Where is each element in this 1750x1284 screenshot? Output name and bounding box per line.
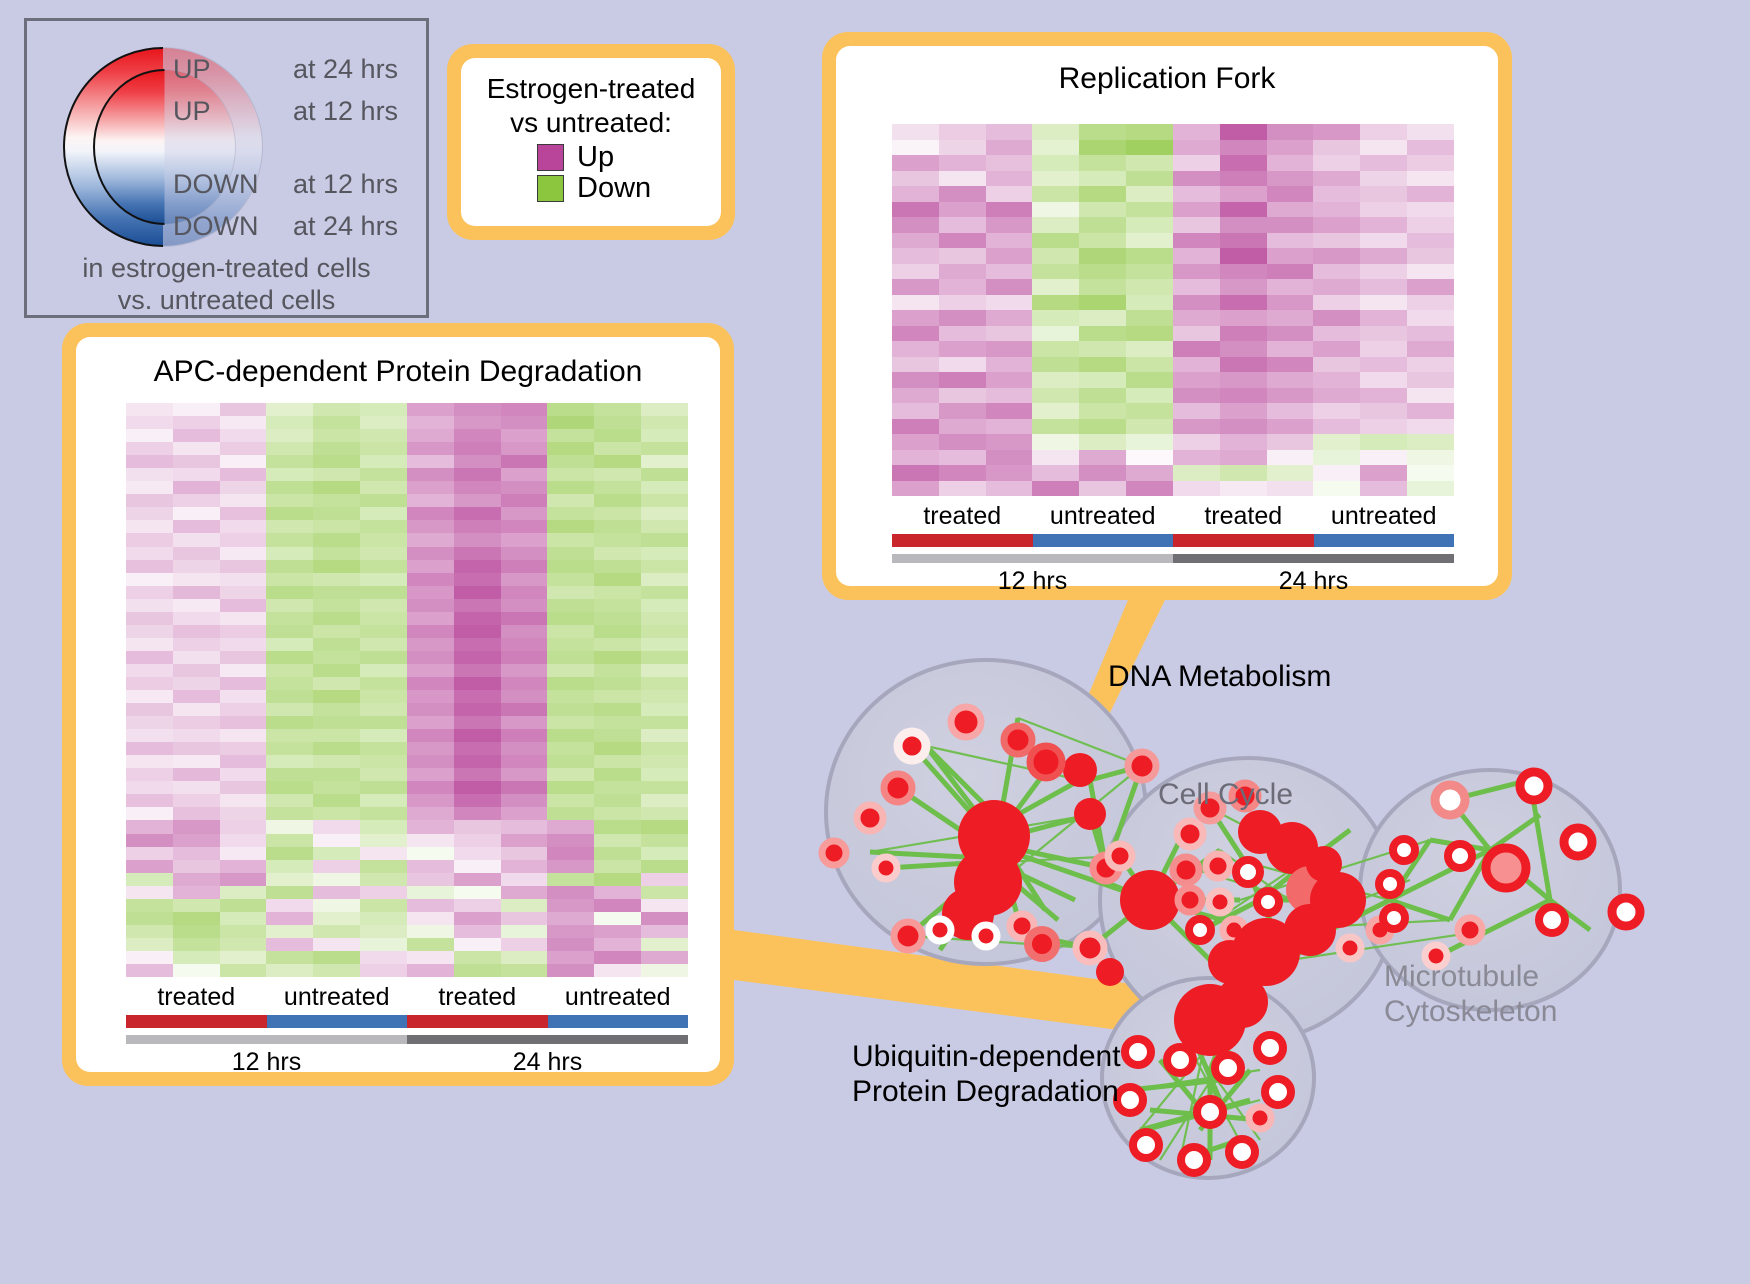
heatmap-cell — [220, 703, 267, 716]
heatmap-cell — [173, 468, 220, 481]
heatmap-cell — [1032, 186, 1079, 202]
heatmap-cell — [547, 677, 594, 690]
heatmap-cell — [126, 820, 173, 833]
heatmap-cell — [1360, 140, 1407, 156]
network-node — [975, 925, 997, 947]
heatmap-cell — [986, 124, 1033, 140]
heatmap-cell — [1032, 295, 1079, 311]
heatmap-cell — [173, 481, 220, 494]
heatmap-cell — [220, 716, 267, 729]
heatmap-cell — [220, 912, 267, 925]
colorbar-dir: UP — [173, 96, 293, 127]
heatmap-cell — [1267, 388, 1314, 404]
heatmap-cell — [1079, 357, 1126, 373]
heatmap-cell — [454, 612, 501, 625]
heatmap-cell — [1079, 310, 1126, 326]
heatmap-cell — [454, 847, 501, 860]
heatmap-cell — [454, 834, 501, 847]
heatmap-cell — [892, 217, 939, 233]
heatmap-cell — [126, 873, 173, 886]
heatmap-cell — [892, 124, 939, 140]
heatmap-cell — [1267, 434, 1314, 450]
heatmap-cell — [1079, 372, 1126, 388]
heatmap-cell — [313, 781, 360, 794]
network-node — [822, 841, 846, 865]
heatmap-cell — [220, 612, 267, 625]
heatmap-cell — [1360, 465, 1407, 481]
heatmap-cell — [454, 403, 501, 416]
heatmap-cell — [501, 612, 548, 625]
heatmap-cell — [126, 899, 173, 912]
heatmap-cell — [986, 264, 1033, 280]
heatmap-cell — [641, 429, 688, 442]
heatmap-cell — [360, 768, 407, 781]
heatmap-cell — [594, 520, 641, 533]
heatmap-cell — [220, 403, 267, 416]
heatmap-cell — [454, 638, 501, 651]
heatmap-cell — [1126, 155, 1173, 171]
heatmap-cell — [126, 755, 173, 768]
heatmap-cell — [1360, 388, 1407, 404]
heatmap-cell — [220, 886, 267, 899]
heatmap-cell — [313, 625, 360, 638]
heatmap-cell — [501, 442, 548, 455]
heatmap-cell — [126, 560, 173, 573]
heatmap-cell — [547, 573, 594, 586]
heatmap-cell — [454, 925, 501, 938]
heatmap-cell — [501, 507, 548, 520]
heatmap-cell — [1313, 279, 1360, 295]
heatmap-cell — [501, 481, 548, 494]
heatmap-cell — [1313, 388, 1360, 404]
legend-title-line1: Estrogen-treated — [461, 72, 721, 106]
heatmap-cell — [594, 442, 641, 455]
heatmap-cell — [892, 264, 939, 280]
heatmap-cell — [641, 755, 688, 768]
colorbar-dir: UP — [173, 54, 293, 85]
heatmap-cell — [1407, 248, 1454, 264]
heatmap-cell — [1126, 233, 1173, 249]
heatmap-cell — [173, 638, 220, 651]
heatmap-cell — [1173, 202, 1220, 218]
heatmap-cell — [454, 860, 501, 873]
heatmap-cell — [360, 403, 407, 416]
network-node — [1435, 785, 1465, 815]
heatmap-cell — [407, 873, 454, 886]
heatmap-cell — [547, 912, 594, 925]
heatmap-cell — [454, 533, 501, 546]
heatmap-cell — [594, 794, 641, 807]
heatmap-cell — [1173, 403, 1220, 419]
network-node — [1197, 1099, 1223, 1125]
cluster-label-ubiquitin: Ubiquitin-dependent Protein Degradation — [852, 1040, 1121, 1109]
heatmap-cell — [986, 465, 1033, 481]
heatmap-cell — [220, 664, 267, 677]
heatmap-cell — [126, 716, 173, 729]
heatmap-cell — [1220, 481, 1267, 497]
heatmap-cell — [501, 416, 548, 429]
colorbar-time: at 12 hrs — [293, 96, 398, 127]
heatmap-cell — [1267, 403, 1314, 419]
heatmap-cell — [1079, 202, 1126, 218]
cluster-label-microtubule: Microtubule Cytoskeleton — [1384, 960, 1557, 1029]
heatmap-cell — [220, 768, 267, 781]
heatmap-cell — [939, 202, 986, 218]
heatmap-cell — [501, 573, 548, 586]
heatmap-cell — [1407, 264, 1454, 280]
replication-fork-panel: Replication Fork treateduntreatedtreated… — [822, 32, 1512, 600]
heatmap-cell — [407, 573, 454, 586]
heatmap-cell — [220, 755, 267, 768]
heatmap-cell — [641, 768, 688, 781]
heatmap-cell — [360, 429, 407, 442]
heatmap-cell — [173, 586, 220, 599]
heatmap-cell — [266, 507, 313, 520]
heatmap-cell — [126, 703, 173, 716]
heatmap-cell — [1407, 388, 1454, 404]
heatmap-cell — [1079, 403, 1126, 419]
heatmap-cell — [1267, 233, 1314, 249]
heatmap-cell — [594, 573, 641, 586]
heatmap-cell — [173, 860, 220, 873]
heatmap-cell — [1360, 171, 1407, 187]
network-node — [951, 707, 981, 737]
heatmap-cell — [126, 834, 173, 847]
heatmap-cell — [173, 768, 220, 781]
heatmap-cell — [126, 520, 173, 533]
heatmap-cell — [1220, 124, 1267, 140]
heatmap-cell — [266, 951, 313, 964]
heatmap-cell — [266, 703, 313, 716]
heatmap-cell — [173, 507, 220, 520]
heatmap-cell — [594, 847, 641, 860]
heatmap-cell — [1032, 233, 1079, 249]
heatmap-cell — [501, 690, 548, 703]
heatmap-cell — [454, 964, 501, 977]
group-label: treated — [126, 983, 267, 1012]
heatmap-cell — [594, 873, 641, 886]
heatmap-cell — [1173, 388, 1220, 404]
heatmap-cell — [360, 742, 407, 755]
heatmap-cell — [641, 403, 688, 416]
heatmap-cell — [986, 140, 1033, 156]
heatmap-cell — [220, 520, 267, 533]
heatmap-cell — [986, 279, 1033, 295]
heatmap-cell — [266, 729, 313, 742]
heatmap-cell — [986, 155, 1033, 171]
heatmap-cell — [501, 547, 548, 560]
heatmap-cell — [126, 638, 173, 651]
heatmap-cell — [313, 964, 360, 977]
heatmap-cell — [1032, 155, 1079, 171]
network-node — [1178, 888, 1202, 912]
heatmap-cell — [1313, 202, 1360, 218]
heatmap-cell — [173, 560, 220, 573]
heatmap-cell — [641, 820, 688, 833]
heatmap-cell — [892, 341, 939, 357]
apc-degradation-title: APC-dependent Protein Degradation — [76, 337, 720, 389]
heatmap-cell — [313, 742, 360, 755]
heatmap-cell — [454, 886, 501, 899]
heatmap-cell — [360, 455, 407, 468]
heatmap-cell — [1407, 202, 1454, 218]
heatmap-cell — [1313, 295, 1360, 311]
heatmap-cell — [892, 171, 939, 187]
heatmap-cell — [173, 742, 220, 755]
heatmap-cell — [1360, 341, 1407, 357]
network-node — [1339, 937, 1361, 959]
network-node — [1181, 1147, 1207, 1173]
heatmap-cell — [501, 742, 548, 755]
heatmap-cell — [313, 860, 360, 873]
heatmap-cell — [939, 217, 986, 233]
heatmap-cell — [594, 729, 641, 742]
heatmap-cell — [266, 573, 313, 586]
colorbar-dir: DOWN — [173, 169, 293, 200]
heatmap-cell — [173, 899, 220, 912]
heatmap-cell — [1126, 388, 1173, 404]
heatmap-cell — [1313, 341, 1360, 357]
heatmap-cell — [220, 429, 267, 442]
heatmap-cell — [220, 586, 267, 599]
heatmap-cell — [313, 938, 360, 951]
heatmap-cell — [126, 455, 173, 468]
heatmap-cell — [547, 703, 594, 716]
heatmap-cell — [1032, 140, 1079, 156]
colorbar-row-up-24: UPat 24 hrs — [173, 54, 398, 85]
heatmap-cell — [1173, 434, 1220, 450]
heatmap-cell — [986, 233, 1033, 249]
time-labels: 12 hrs24 hrs — [126, 1048, 688, 1077]
heatmap-cell — [1267, 326, 1314, 342]
time-color-bars — [892, 554, 1454, 563]
heatmap-cell — [1313, 155, 1360, 171]
heatmap-cell — [173, 520, 220, 533]
heatmap-cell — [1173, 450, 1220, 466]
heatmap-cell — [1220, 171, 1267, 187]
heatmap-cell — [220, 860, 267, 873]
heatmap-cell — [407, 664, 454, 677]
heatmap-cell — [1407, 465, 1454, 481]
heatmap-cell — [407, 638, 454, 651]
heatmap-cell — [1220, 248, 1267, 264]
network-node — [1108, 844, 1132, 868]
heatmap-cell — [220, 573, 267, 586]
heatmap-cell — [266, 429, 313, 442]
network-node — [1028, 930, 1056, 958]
network-node — [898, 732, 926, 760]
heatmap-cell — [454, 820, 501, 833]
heatmap-cell — [407, 912, 454, 925]
heatmap-cell — [1220, 186, 1267, 202]
network-node — [1117, 1087, 1143, 1113]
heatmap-cell — [939, 310, 986, 326]
heatmap-cell — [266, 677, 313, 690]
heatmap-cell — [501, 664, 548, 677]
heatmap-cell — [641, 638, 688, 651]
heatmap-cell — [173, 703, 220, 716]
colorbar-footer-line2: vs. untreated cells — [27, 285, 426, 317]
heatmap-cell — [1313, 372, 1360, 388]
heatmap-cell — [313, 481, 360, 494]
heatmap-cell — [594, 507, 641, 520]
cluster-label-ubiquitin-line2: Protein Degradation — [852, 1075, 1121, 1110]
heatmap-cell — [501, 794, 548, 807]
heatmap-cell — [173, 951, 220, 964]
heatmap-cell — [313, 925, 360, 938]
heatmap-cell — [454, 938, 501, 951]
heatmap-cell — [1173, 217, 1220, 233]
heatmap-cell — [173, 664, 220, 677]
heatmap-cell — [1126, 295, 1173, 311]
heatmap-cell — [641, 612, 688, 625]
heatmap-cell — [939, 326, 986, 342]
heatmap-cell — [501, 403, 548, 416]
heatmap-cell — [1079, 434, 1126, 450]
heatmap-cell — [126, 781, 173, 794]
heatmap-cell — [501, 938, 548, 951]
group-labels: treateduntreatedtreateduntreated — [892, 502, 1454, 531]
heatmap-cell — [501, 807, 548, 820]
heatmap-cell — [501, 651, 548, 664]
colorbar-row-down-24: DOWNat 24 hrs — [173, 211, 398, 242]
heatmap-cell — [1079, 264, 1126, 280]
network-node — [929, 919, 951, 941]
heatmap-cell — [501, 494, 548, 507]
heatmap-cell — [986, 419, 1033, 435]
heatmap-cell — [501, 520, 548, 533]
heatmap-cell — [1360, 450, 1407, 466]
heatmap-cell — [220, 964, 267, 977]
heatmap-cell — [313, 703, 360, 716]
heatmap-cell — [594, 925, 641, 938]
heatmap-cell — [594, 912, 641, 925]
network-svg — [790, 600, 1750, 1279]
heatmap-cell — [594, 599, 641, 612]
network-node — [1539, 907, 1565, 933]
heatmap-cell — [1173, 233, 1220, 249]
heatmap-cell — [1126, 341, 1173, 357]
heatmap-cell — [407, 533, 454, 546]
apc-degradation-axis: treateduntreatedtreateduntreated 12 hrs2… — [126, 983, 688, 1077]
heatmap-cell — [641, 834, 688, 847]
heatmap-cell — [594, 664, 641, 677]
heatmap-cell — [1267, 450, 1314, 466]
heatmap-cell — [986, 341, 1033, 357]
heatmap-cell — [407, 599, 454, 612]
group-color-bar — [1173, 534, 1314, 547]
heatmap-cell — [407, 416, 454, 429]
heatmap-cell — [939, 372, 986, 388]
network-node — [894, 922, 922, 950]
heatmap-cell — [407, 834, 454, 847]
heatmap-cell — [1173, 357, 1220, 373]
heatmap-cell — [501, 834, 548, 847]
heatmap-cell — [173, 625, 220, 638]
heatmap-cell — [1079, 217, 1126, 233]
heatmap-cell — [126, 625, 173, 638]
heatmap-cell — [126, 768, 173, 781]
heatmap-cell — [360, 625, 407, 638]
cluster-label-microtubule-line2: Cytoskeleton — [1384, 995, 1557, 1030]
network-node — [1209, 891, 1231, 913]
heatmap-cell — [986, 295, 1033, 311]
heatmap-cell — [360, 873, 407, 886]
network-node — [1167, 1047, 1193, 1073]
heatmap-cell — [220, 807, 267, 820]
heatmap-cell — [313, 755, 360, 768]
heatmap-cell — [1360, 326, 1407, 342]
heatmap-cell — [454, 599, 501, 612]
heatmap-cell — [641, 442, 688, 455]
heatmap-cell — [1360, 419, 1407, 435]
heatmap-cell — [407, 468, 454, 481]
heatmap-cell — [454, 729, 501, 742]
heatmap-cell — [313, 573, 360, 586]
heatmap-cell — [641, 847, 688, 860]
heatmap-cell — [1126, 140, 1173, 156]
heatmap-cell — [547, 481, 594, 494]
heatmap-cell — [1407, 372, 1454, 388]
heatmap-cell — [1407, 140, 1454, 156]
heatmap-cell — [1126, 465, 1173, 481]
heatmap-cell — [547, 547, 594, 560]
heatmap-cell — [360, 573, 407, 586]
heatmap-cell — [501, 703, 548, 716]
network-node — [1216, 976, 1268, 1028]
heatmap-cell — [547, 403, 594, 416]
heatmap-cell — [594, 886, 641, 899]
heatmap-cell — [594, 547, 641, 560]
heatmap-cell — [1360, 403, 1407, 419]
heatmap-cell — [173, 729, 220, 742]
heatmap-cell — [173, 820, 220, 833]
heatmap-cell — [173, 886, 220, 899]
heatmap-cell — [360, 638, 407, 651]
heatmap-cell — [126, 547, 173, 560]
heatmap-cell — [501, 638, 548, 651]
heatmap-cell — [939, 450, 986, 466]
heatmap-cell — [1173, 372, 1220, 388]
heatmap-cell — [594, 781, 641, 794]
heatmap-cell — [313, 403, 360, 416]
heatmap-cell — [547, 729, 594, 742]
heatmap-cell — [1313, 434, 1360, 450]
heatmap-cell — [1313, 403, 1360, 419]
heatmap-cell — [126, 429, 173, 442]
heatmap-cell — [501, 847, 548, 860]
heatmap-cell — [360, 886, 407, 899]
heatmap-cell — [1313, 171, 1360, 187]
heatmap-cell — [173, 533, 220, 546]
heatmap-cell — [939, 388, 986, 404]
heatmap-cell — [547, 794, 594, 807]
figure-canvas: UPat 24 hrs UPat 12 hrs DOWNat 12 hrs DO… — [0, 0, 1750, 1279]
heatmap-cell — [547, 951, 594, 964]
group-label: untreated — [1033, 502, 1174, 531]
heatmap-cell — [501, 886, 548, 899]
heatmap-cell — [986, 357, 1033, 373]
heatmap-cell — [313, 899, 360, 912]
heatmap-cell — [986, 171, 1033, 187]
heatmap-cell — [1079, 155, 1126, 171]
heatmap-cell — [547, 847, 594, 860]
heatmap-cell — [986, 326, 1033, 342]
heatmap-cell — [1126, 450, 1173, 466]
network-node — [1257, 1035, 1283, 1061]
heatmap-cell — [1032, 310, 1079, 326]
heatmap-cell — [594, 807, 641, 820]
